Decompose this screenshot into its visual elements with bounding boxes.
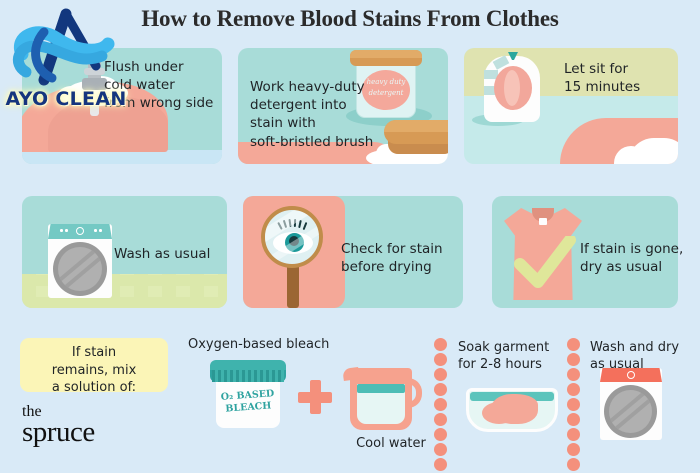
brand-name: AYO CLEAN <box>2 88 130 110</box>
solution-callout-text: If stainremains, mixa solution of: <box>20 344 168 397</box>
step-3-label: Let sit for15 minutes <box>564 60 684 96</box>
soaking-garment <box>490 394 538 424</box>
step-6-label: If stain is gone,dry as usual <box>580 240 700 276</box>
magnifying-glass-icon <box>261 206 323 268</box>
dotted-divider <box>567 338 581 473</box>
checkmark-icon <box>514 236 576 290</box>
cool-water-caption: Cool water <box>336 436 446 453</box>
step-5-label: Check for stainbefore drying <box>341 240 471 276</box>
water-surface <box>22 150 222 164</box>
bottle-label-inner <box>504 70 520 106</box>
shirt-tag <box>539 218 547 225</box>
washer-knob-icon <box>627 371 635 379</box>
brush-highlight <box>384 120 448 132</box>
infographic-canvas: How to Remove Blood Stains From Clothes … <box>0 0 700 466</box>
step-4-label: Wash as usual <box>114 245 234 263</box>
dotted-divider <box>434 338 448 473</box>
ayo-clean-logo: AYO CLEAN <box>4 8 126 116</box>
washer-knob-icon <box>76 227 84 235</box>
plus-icon <box>298 380 332 414</box>
bleach-jar-label: O₂ BASEDBLEACH <box>215 388 281 416</box>
the-spruce-line2: spruce <box>22 419 95 447</box>
cup-water-line <box>357 384 405 393</box>
soak-step-label: Soak garmentfor 2-8 hours <box>458 340 578 374</box>
bleach-caption: Oxygen-based bleach <box>188 337 378 354</box>
bleach-jar-ridges <box>212 370 284 382</box>
washer-drum-inner <box>58 247 102 291</box>
step-2-label: Work heavy-dutydetergent intostain withs… <box>250 78 390 151</box>
jar-lid-top <box>350 50 422 58</box>
the-spruce-logo: the spruce <box>22 404 95 447</box>
bleach-jar-lid-top <box>210 360 286 370</box>
washer-drum-inner <box>609 390 652 433</box>
